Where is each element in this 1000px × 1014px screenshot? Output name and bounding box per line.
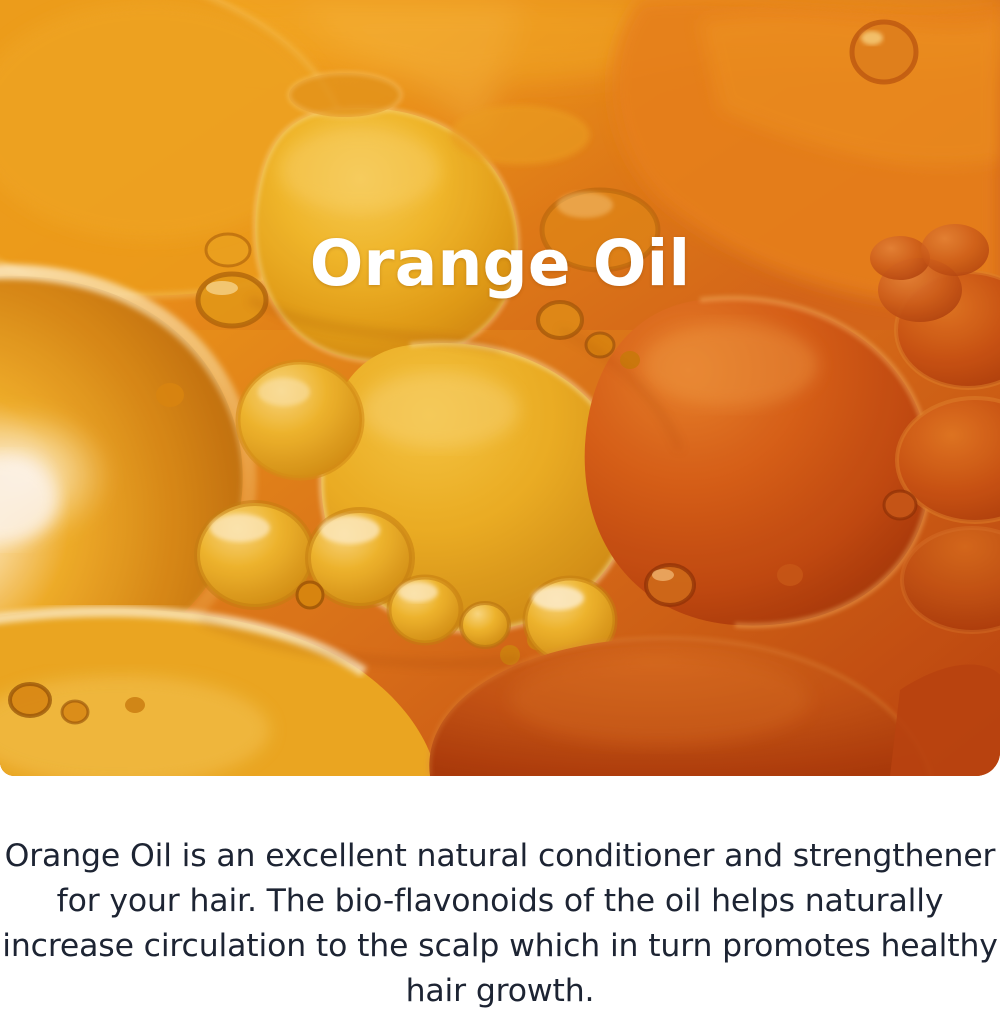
description-section: Orange Oil is an excellent natural condi…: [0, 776, 1000, 1014]
hero-title: Orange Oil: [0, 232, 1000, 295]
orange-oil-macro-bubbles-photo: [0, 0, 1000, 776]
ingredient-card: Orange Oil Orange Oil is an excellent na…: [0, 0, 1000, 1000]
hero-image-container: Orange Oil: [0, 0, 1000, 776]
description-text: Orange Oil is an excellent natural condi…: [0, 776, 1000, 1014]
